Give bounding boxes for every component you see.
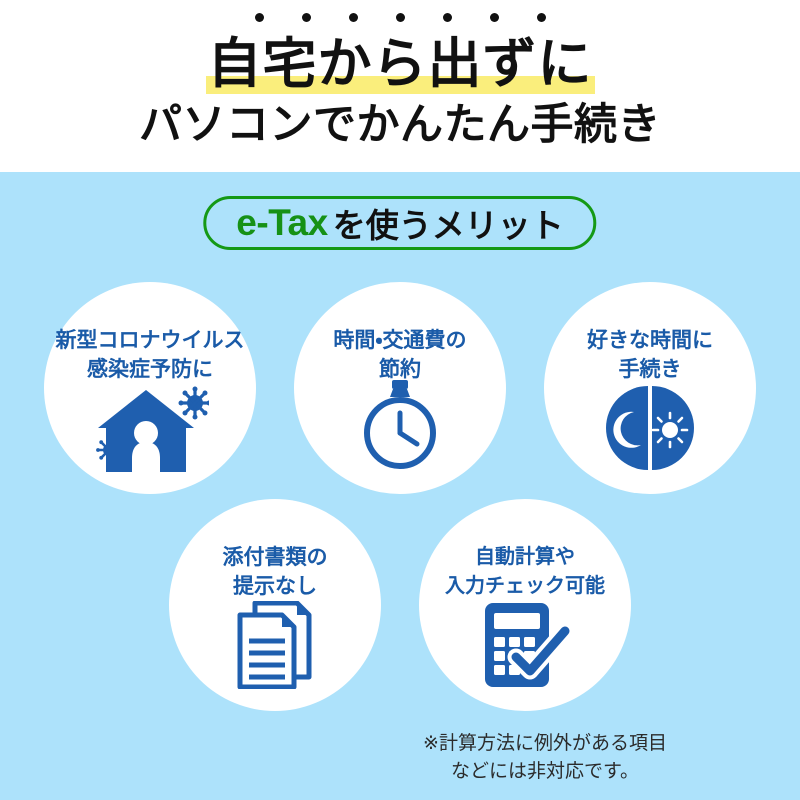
house-person-virus-icon <box>44 386 256 472</box>
emphasis-dot <box>255 13 264 22</box>
benefit-label: 時間・交通費の 節約 <box>333 326 466 384</box>
benefits-panel: e-Tax を使うメリット 新型コロナウイルス 感染症予防に <box>0 172 800 800</box>
benefit-circle-covid: 新型コロナウイルス 感染症予防に <box>44 282 256 494</box>
emphasis-dot <box>537 13 546 22</box>
emphasis-dot <box>396 13 405 22</box>
documents-icon <box>169 601 381 689</box>
headline-primary-text: 自宅から出ずに <box>206 34 595 94</box>
benefit-label: 新型コロナウイルス 感染症予防に <box>56 326 245 384</box>
emphasis-dot <box>443 13 452 22</box>
emphasis-dots <box>0 13 800 29</box>
headline-secondary: パソコンでかんたん手続き <box>0 99 800 151</box>
emphasis-dot <box>302 13 311 22</box>
benefit-circle-anytime: 好きな時間に 手続き <box>544 282 756 494</box>
etax-merit-suffix: を使うメリット <box>333 199 564 247</box>
headline-primary: 自宅から出ずに <box>0 33 800 95</box>
benefit-label: 好きな時間に 手続き <box>587 326 713 384</box>
calculator-check-icon <box>419 601 631 689</box>
footnote-note: ※計算方法に例外がある項目 などには非対応です。 <box>380 730 710 786</box>
etax-brand-label: e-Tax <box>236 202 327 244</box>
emphasis-dot <box>349 13 358 22</box>
moon-sun-icon <box>544 384 756 472</box>
etax-merit-badge: e-Tax を使うメリット <box>203 196 596 250</box>
emphasis-dot <box>490 13 499 22</box>
infographic-page: 自宅から出ずに パソコンでかんたん手続き e-Tax を使うメリット 新型コロナ… <box>0 0 800 800</box>
benefit-label: 添付書類の 提示なし <box>223 543 328 601</box>
benefit-circle-no-attachments: 添付書類の 提示なし <box>169 499 381 711</box>
header-band: 自宅から出ずに パソコンでかんたん手続き <box>0 0 800 172</box>
benefit-circle-auto-calc: 自動計算や 入力チェック可能 <box>419 499 631 711</box>
benefit-circle-time-cost: 時間・交通費の 節約 <box>294 282 506 494</box>
stopwatch-icon <box>294 378 506 472</box>
benefit-label: 自動計算や 入力チェック可能 <box>445 543 605 601</box>
